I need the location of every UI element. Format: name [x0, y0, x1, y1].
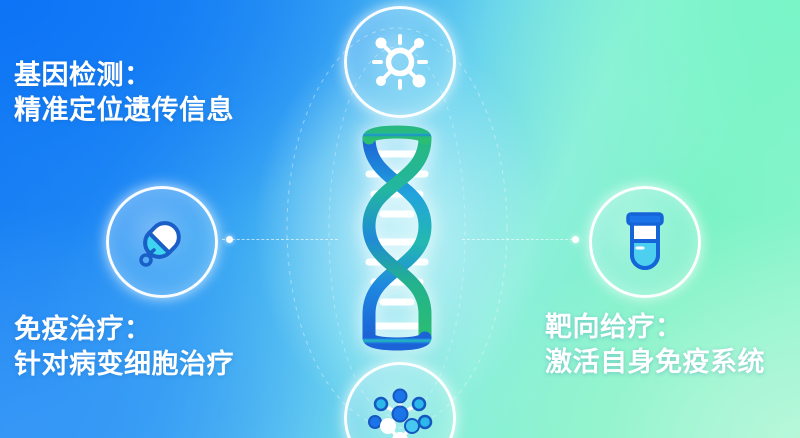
connector-line-left — [222, 239, 338, 241]
molecule-network-icon — [366, 384, 434, 438]
connector-node-left — [226, 236, 233, 243]
label-gene-testing-detail: 精准定位遗传信息 — [14, 93, 234, 128]
label-targeted-therapy-heading: 靶向给疗： — [545, 310, 765, 345]
label-gene-testing: 基因检测： 精准定位遗传信息 — [14, 58, 234, 128]
label-targeted-therapy-detail: 激活自身免疫系统 — [545, 345, 765, 380]
icon-bubble-test-tube[interactable] — [589, 186, 701, 298]
icon-bubble-cell-virus[interactable] — [344, 6, 456, 118]
connector-node-right — [572, 236, 579, 243]
label-targeted-therapy: 靶向给疗： 激活自身免疫系统 — [545, 310, 765, 380]
capsule-pill-icon — [130, 210, 194, 274]
label-immunotherapy-detail: 针对病变细胞治疗 — [14, 347, 234, 382]
connector-line-right — [462, 239, 578, 241]
label-immunotherapy-heading: 免疫治疗： — [14, 312, 234, 347]
test-tube-icon — [616, 211, 674, 273]
dna-helix-icon — [343, 122, 451, 354]
icon-bubble-capsule[interactable] — [106, 186, 218, 298]
infographic-canvas: 基因检测： 精准定位遗传信息 免疫治疗： 针对病变细胞治疗 靶向给疗： 激活自身… — [0, 0, 800, 438]
label-immunotherapy: 免疫治疗： 针对病变细胞治疗 — [14, 312, 234, 382]
label-gene-testing-heading: 基因检测： — [14, 58, 234, 93]
cell-virus-icon — [369, 31, 431, 93]
